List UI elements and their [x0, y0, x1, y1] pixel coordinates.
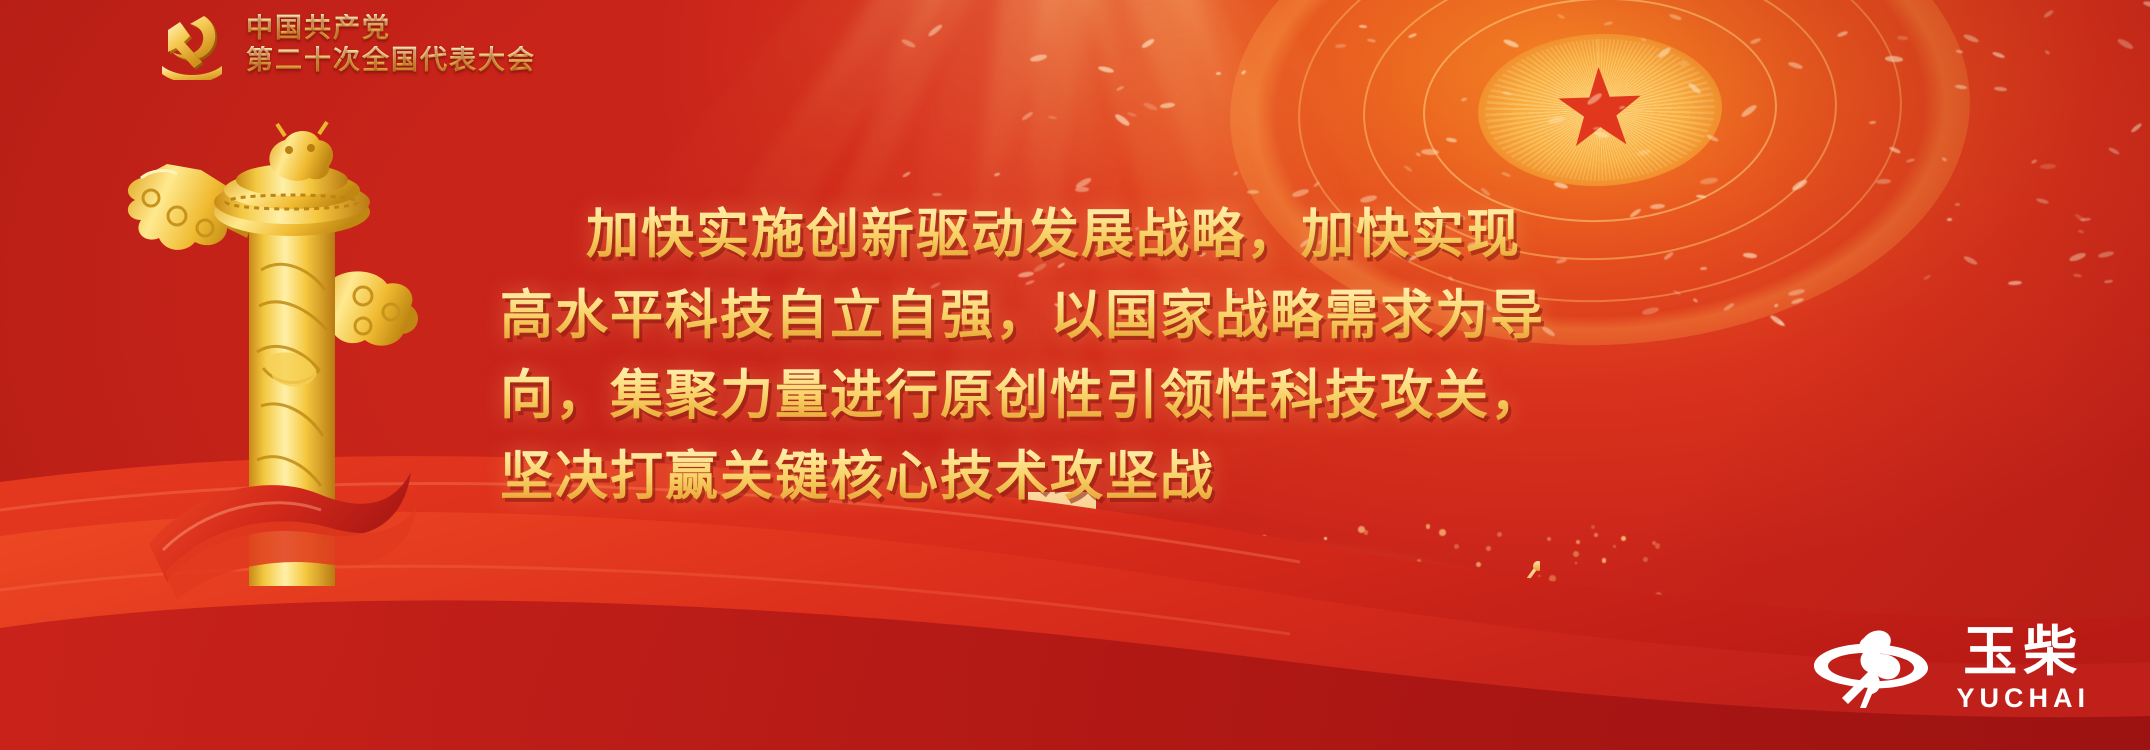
yuchai-logo: 玉柴 YUCHAI [1808, 622, 2090, 714]
yuchai-chinese-name: 玉柴 [1963, 625, 2083, 679]
slogan-block: 加快实施创新驱动发展战略，加快实现 高水平科技自立自强，以国家战略需求为导 向，… [500, 195, 1710, 517]
slogan-line-3: 向，集聚力量进行原创性引领性科技攻关， [500, 356, 1710, 437]
slogan-line-1: 加快实施创新驱动发展战略，加快实现 [500, 195, 1710, 276]
slogan-line-2: 高水平科技自立自强，以国家战略需求为导 [500, 276, 1710, 357]
propaganda-banner: 中国共产党 第二十次全国代表大会 加快实施创新驱动发展战略，加快实现 高水平科技… [0, 0, 2150, 750]
party-congress-logo: 中国共产党 第二十次全国代表大会 [152, 8, 536, 80]
hammer-and-sickle-emblem [152, 8, 232, 80]
huabiao-ornamental-column [105, 120, 435, 600]
congress-logo-line2: 第二十次全国代表大会 [246, 46, 536, 76]
slogan-line-4: 坚决打赢关键核心技术攻坚战 [500, 437, 1710, 518]
yuchai-ellipse-mark [1808, 622, 1940, 714]
congress-logo-line1: 中国共产党 [246, 14, 536, 44]
yuchai-english-name: YUCHAI [1956, 685, 2090, 712]
stone-beast [269, 122, 333, 181]
